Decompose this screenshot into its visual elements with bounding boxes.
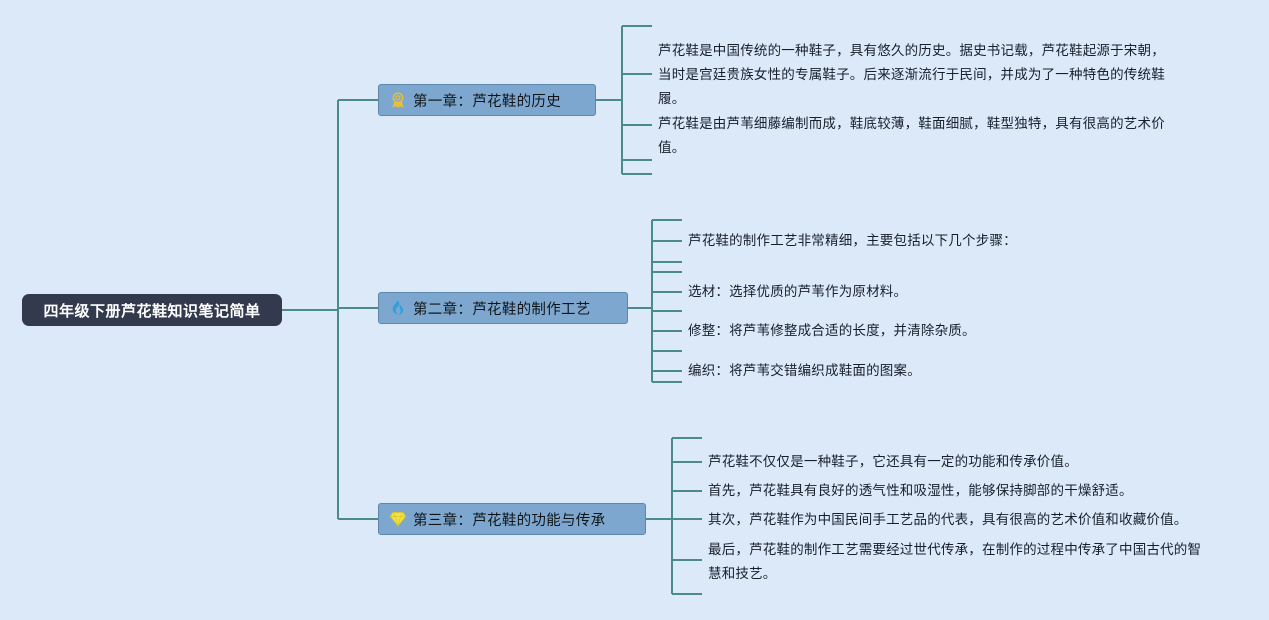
branch-node-chapter-3[interactable]: 第三章：芦花鞋的功能与传承 xyxy=(378,503,646,535)
leaf-paragraph: 芦花鞋的制作工艺非常精细，主要包括以下几个步骤： xyxy=(688,229,1148,253)
leaf-paragraph: 芦花鞋不仅仅是一种鞋子，它还具有一定的功能和传承价值。 xyxy=(708,450,1208,474)
leaf-text-ch2-7: 编织：将芦苇交错编织成鞋面的图案。 xyxy=(688,359,1148,383)
leaf-paragraph: 编织：将芦苇交错编织成鞋面的图案。 xyxy=(688,359,1148,383)
leaf-paragraph: 修整：将芦苇修整成合适的长度，并清除杂质。 xyxy=(688,319,1148,343)
root-node-label: 四年级下册芦花鞋知识笔记简单 xyxy=(43,300,260,321)
branch-label-chapter-3: 第三章：芦花鞋的功能与传承 xyxy=(413,509,605,530)
leaf-text-ch2-1: 芦花鞋的制作工艺非常精细，主要包括以下几个步骤： xyxy=(688,229,1148,253)
leaf-text-ch3-2: 首先，芦花鞋具有良好的透气性和吸湿性，能够保持脚部的干燥舒适。 xyxy=(708,479,1208,503)
leaf-paragraph: 芦花鞋是中国传统的一种鞋子，具有悠久的历史。据史书记载，芦花鞋起源于宋朝，当时是… xyxy=(658,39,1170,111)
root-node[interactable]: 四年级下册芦花鞋知识笔记简单 xyxy=(22,294,282,326)
mindmap-canvas: 四年级下册芦花鞋知识笔记简单 第一章：芦花鞋的历史 芦花鞋是中国传统的一种鞋子，… xyxy=(0,0,1269,620)
branch-label-chapter-2: 第二章：芦花鞋的制作工艺 xyxy=(413,298,591,319)
branch-label-chapter-1: 第一章：芦花鞋的历史 xyxy=(413,90,561,111)
leaf-text-ch3-1: 芦花鞋不仅仅是一种鞋子，它还具有一定的功能和传承价值。 xyxy=(708,450,1208,474)
leaf-paragraph: 其次，芦花鞋作为中国民间手工艺品的代表，具有很高的艺术价值和收藏价值。 xyxy=(708,508,1218,532)
leaf-paragraph: 最后，芦花鞋的制作工艺需要经过世代传承，在制作的过程中传承了中国古代的智慧和技艺… xyxy=(708,538,1208,586)
medal-rosette-icon xyxy=(389,91,407,109)
leaf-text-ch1-1: 芦花鞋是中国传统的一种鞋子，具有悠久的历史。据史书记载，芦花鞋起源于宋朝，当时是… xyxy=(658,39,1170,111)
leaf-text-ch1-2: 芦花鞋是由芦苇细藤编制而成，鞋底较薄，鞋面细腻，鞋型独特，具有很高的艺术价值。 xyxy=(658,112,1170,160)
flame-icon xyxy=(389,299,407,317)
leaf-paragraph: 芦花鞋是由芦苇细藤编制而成，鞋底较薄，鞋面细腻，鞋型独特，具有很高的艺术价值。 xyxy=(658,112,1170,160)
leaf-text-ch2-5: 修整：将芦苇修整成合适的长度，并清除杂质。 xyxy=(688,319,1148,343)
branch-node-chapter-1[interactable]: 第一章：芦花鞋的历史 xyxy=(378,84,596,116)
leaf-text-ch3-3: 其次，芦花鞋作为中国民间手工艺品的代表，具有很高的艺术价值和收藏价值。 xyxy=(708,508,1218,532)
branch-node-chapter-2[interactable]: 第二章：芦花鞋的制作工艺 xyxy=(378,292,628,324)
leaf-text-ch2-3: 选材：选择优质的芦苇作为原材料。 xyxy=(688,280,1148,304)
leaf-text-ch3-4: 最后，芦花鞋的制作工艺需要经过世代传承，在制作的过程中传承了中国古代的智慧和技艺… xyxy=(708,538,1208,586)
leaf-paragraph: 选材：选择优质的芦苇作为原材料。 xyxy=(688,280,1148,304)
gem-diamond-icon xyxy=(389,510,407,528)
leaf-paragraph: 首先，芦花鞋具有良好的透气性和吸湿性，能够保持脚部的干燥舒适。 xyxy=(708,479,1208,503)
